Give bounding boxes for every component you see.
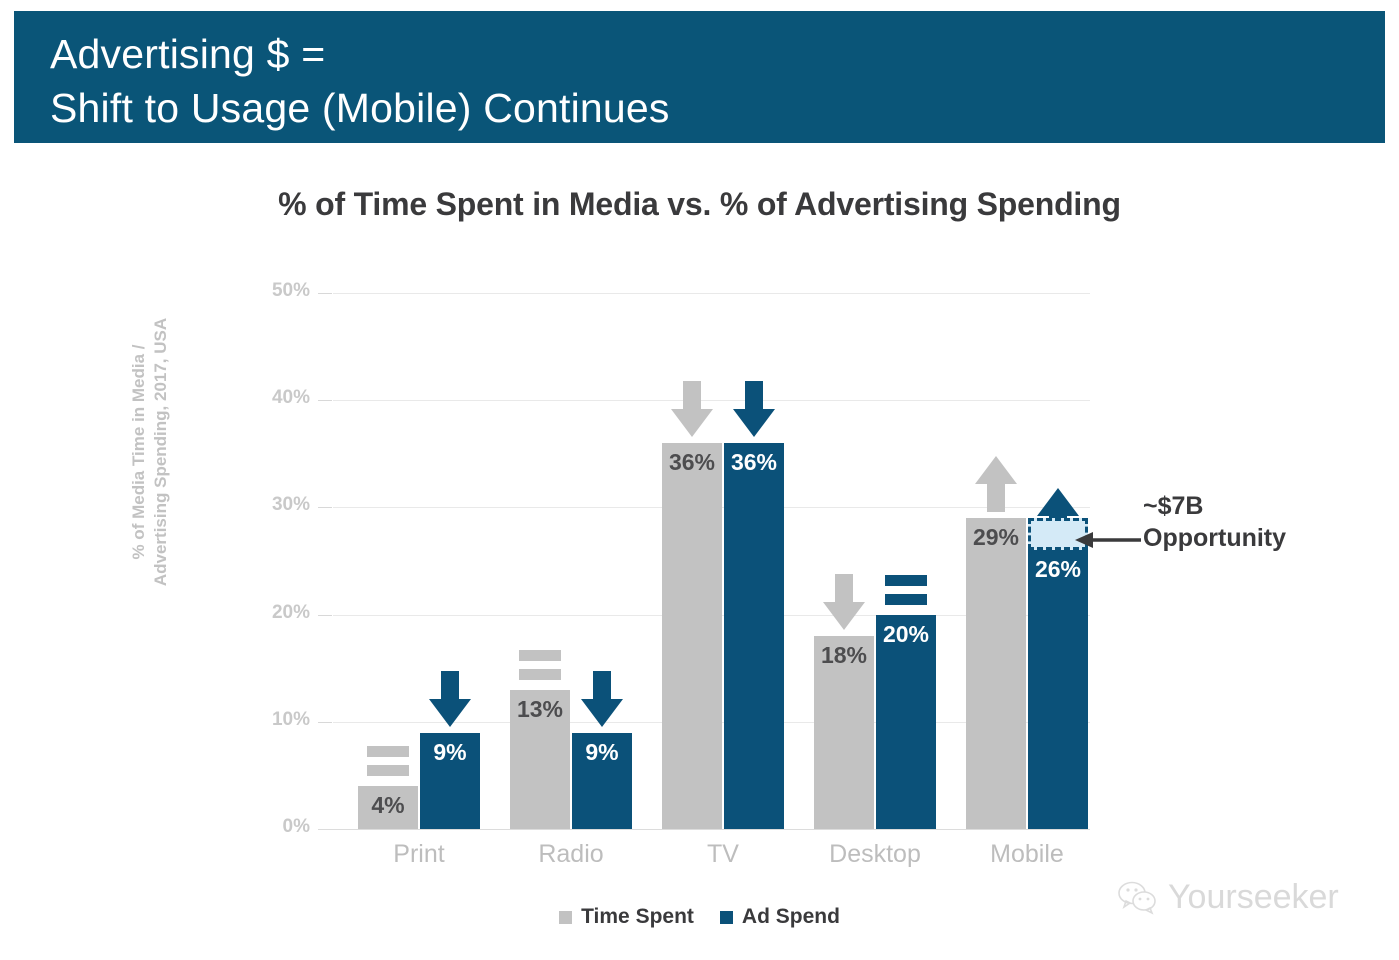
category-label-desktop: Desktop: [795, 840, 955, 869]
bar-value-label: 29%: [966, 524, 1026, 551]
indicator-equals-icon: [365, 742, 411, 782]
bar-value-label: 20%: [876, 621, 936, 648]
indicator-down-icon: [427, 671, 473, 729]
y-axis-tick-mark: [318, 722, 332, 723]
y-axis-tick-label: 10%: [250, 709, 310, 731]
category-label-mobile: Mobile: [947, 840, 1107, 869]
category-label-radio: Radio: [491, 840, 651, 869]
watermark: Yourseeker: [1118, 878, 1339, 917]
y-axis-tick-mark: [318, 507, 332, 508]
category-label-tv: TV: [643, 840, 803, 869]
bar-tv-ad-spend[interactable]: 36%: [724, 443, 784, 829]
bar-value-label: 13%: [510, 696, 570, 723]
legend-label: Ad Spend: [742, 905, 840, 929]
y-axis-tick-label: 40%: [250, 387, 310, 409]
opportunity-callout: ~$7B Opportunity: [1143, 490, 1373, 554]
indicator-down-icon: [669, 381, 715, 439]
bar-chart: % of Media Time in Media / Advertising S…: [0, 0, 1399, 960]
y-axis-title: % of Media Time in Media / Advertising S…: [128, 242, 172, 662]
indicator-up-icon: [973, 456, 1019, 514]
wechat-icon: [1118, 881, 1158, 915]
bar-value-label: 9%: [420, 739, 480, 766]
y-axis-tick-mark: [318, 400, 332, 401]
indicator-down-icon: [821, 574, 867, 632]
y-axis-tick-mark: [318, 293, 332, 294]
gridline: [333, 293, 1090, 294]
bar-value-label: 4%: [358, 792, 418, 819]
bar-desktop-ad-spend[interactable]: 20%: [876, 615, 936, 829]
bar-print-time-spent[interactable]: 4%: [358, 786, 418, 829]
bar-tv-time-spent[interactable]: 36%: [662, 443, 722, 829]
bar-mobile-time-spent[interactable]: 29%: [966, 518, 1026, 829]
category-label-print: Print: [339, 840, 499, 869]
bar-desktop-time-spent[interactable]: 18%: [814, 636, 874, 829]
bar-value-label: 18%: [814, 642, 874, 669]
opportunity-amount: ~$7B: [1143, 490, 1373, 522]
legend-swatch: [720, 911, 733, 924]
watermark-label: Yourseeker: [1168, 878, 1339, 917]
indicator-down-icon: [731, 381, 777, 439]
y-axis-tick-label: 50%: [250, 280, 310, 302]
legend-item-ad-spend[interactable]: Ad Spend: [720, 905, 840, 929]
y-axis-tick-label: 30%: [250, 494, 310, 516]
x-axis-baseline: [318, 829, 1090, 830]
y-axis-tick-label: 20%: [250, 602, 310, 624]
bar-value-label: 36%: [724, 449, 784, 476]
indicator-down-icon: [579, 671, 625, 729]
y-axis-tick-label: 0%: [250, 816, 310, 838]
legend-item-time-spent[interactable]: Time Spent: [559, 905, 694, 929]
opportunity-arrow-icon: [1075, 530, 1141, 550]
bar-mobile-ad-spend[interactable]: 26%: [1028, 550, 1088, 829]
opportunity-label: Opportunity: [1143, 522, 1373, 554]
bar-print-ad-spend[interactable]: 9%: [420, 733, 480, 829]
bar-value-label: 26%: [1028, 556, 1088, 583]
bar-radio-time-spent[interactable]: 13%: [510, 690, 570, 829]
y-axis-tick-mark: [318, 615, 332, 616]
bar-radio-ad-spend[interactable]: 9%: [572, 733, 632, 829]
bar-value-label: 9%: [572, 739, 632, 766]
bar-value-label: 36%: [662, 449, 722, 476]
indicator-equals-icon: [517, 646, 563, 686]
legend-swatch: [559, 911, 572, 924]
legend-label: Time Spent: [581, 905, 694, 929]
indicator-equals-icon: [883, 571, 929, 611]
